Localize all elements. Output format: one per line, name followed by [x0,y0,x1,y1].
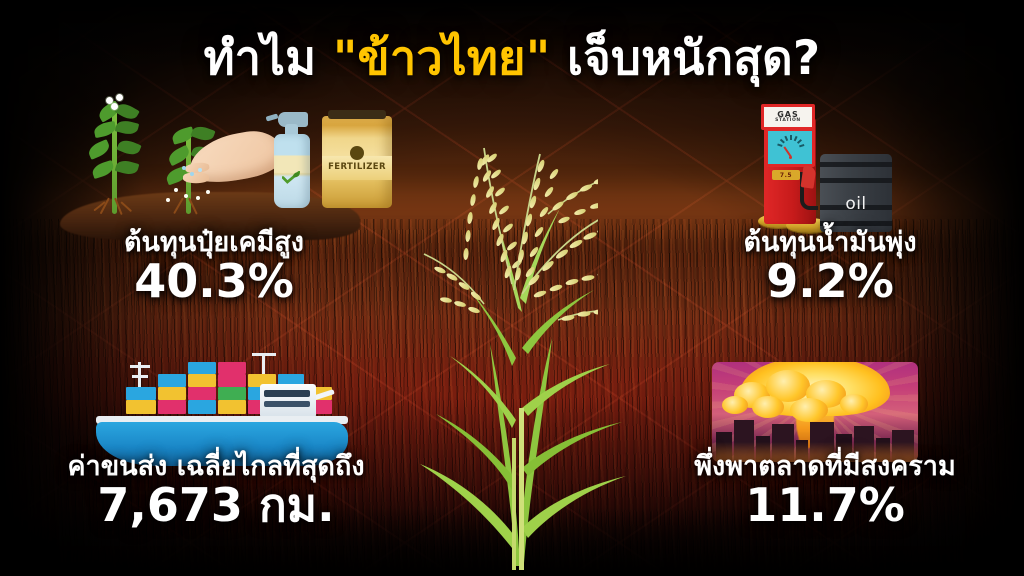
stat-fertilizer-value: 40.3% [24,256,404,307]
granule [166,198,170,202]
gas-station-sign: GAS STATION [761,104,815,130]
granule [190,172,194,176]
granule [206,190,210,194]
war-scene-frame [712,362,918,462]
stat-shipping: ค่าขนส่ง เฉลี่ยไกลที่สุดถึง 7,673 กม. [16,452,416,531]
granule [184,194,188,198]
spray-bottle-icon [272,112,312,208]
explosion-war-icon [712,362,918,462]
granule [174,188,178,192]
stat-fuel: ต้นทุนน้ำมันพุ่ง 9.2% [660,228,1000,307]
title-prefix: ทำไม [204,31,333,86]
stat-fertilizer: ต้นทุนปุ๋ยเคมีสูง 40.3% [24,228,404,307]
page-title: ทำไม "ข้าวไทย" เจ็บหนักสุด? [0,34,1024,83]
granule [198,168,202,172]
gas-sign-line2: STATION [775,119,801,124]
ship-bridge [260,384,316,418]
rice-plant-icon [398,108,634,570]
granule [182,166,186,170]
container-ship-icon [96,348,352,466]
stat-shipping-value: 7,673 กม. [16,480,416,531]
oil-barrel: oil [820,154,892,232]
oil-barrel-label: oil [820,194,892,214]
fuel-price-display: 7.5 [772,170,800,180]
fertilizer-spray-icon: FERTILIZER [54,88,394,248]
stat-war: พึ่งพาตลาดที่มีสงคราม 11.7% [650,452,1000,531]
title-highlight: "ข้าวไทย" [333,31,551,86]
stat-war-value: 11.7% [650,480,1000,531]
granule [196,196,200,200]
stat-fuel-value: 9.2% [660,256,1000,307]
gas-pump-oil-barrel-icon: GAS STATION 7.5 oil [752,104,902,232]
title-suffix: เจ็บหนักสุด? [550,31,820,86]
infographic-canvas: ทำไม "ข้าวไทย" เจ็บหนักสุด? [0,0,1024,576]
leaf-check-icon [282,171,300,184]
fuel-gauge [765,128,815,167]
